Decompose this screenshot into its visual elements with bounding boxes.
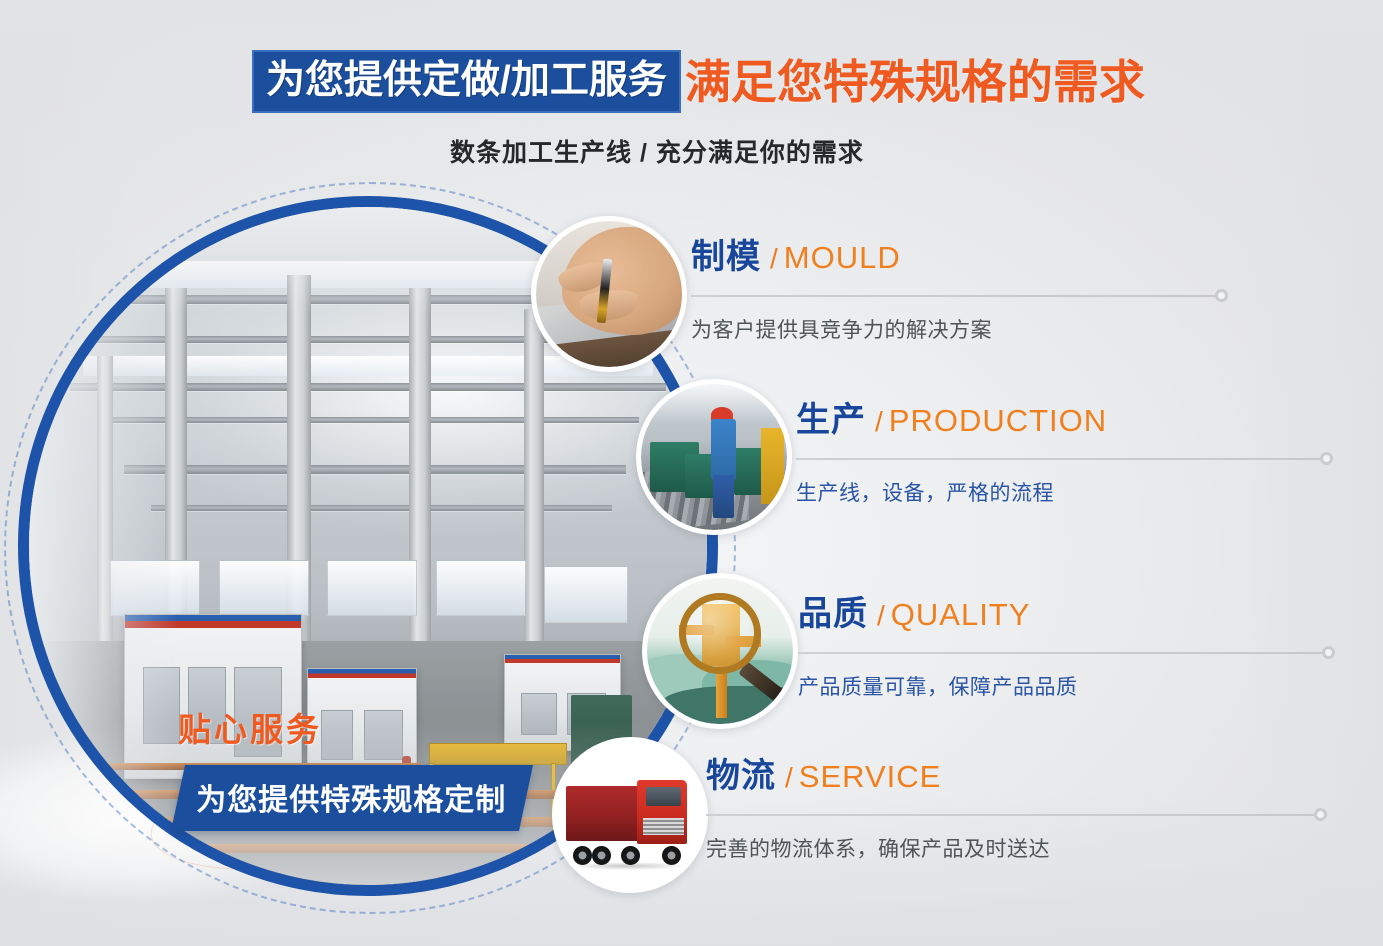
service-title-cn: 生产 <box>796 401 866 439</box>
service-title: 品质/QUALITY <box>798 597 1383 631</box>
service-description: 产品质量可靠，保障产品品质 <box>798 671 1383 701</box>
service-title-en: SERVICE <box>799 759 942 794</box>
service-title-separator: / <box>875 406 883 437</box>
service-divider <box>706 807 1383 823</box>
production-worker-icon <box>636 379 792 535</box>
badge-bar[interactable]: 为您提供特殊规格定制 <box>171 765 533 831</box>
mould-hand-pen-icon <box>531 216 687 372</box>
service-title-en: PRODUCTION <box>889 403 1107 438</box>
service-divider <box>798 645 1383 661</box>
service-divider <box>796 451 1383 467</box>
divider-line <box>691 295 1215 297</box>
service-title-cn: 制模 <box>691 238 761 276</box>
badge-title: 贴心服务 <box>178 703 526 751</box>
divider-end-dot <box>1314 808 1327 821</box>
divider-line <box>798 652 1322 654</box>
service-title-separator: / <box>785 762 793 793</box>
service-title-cn: 物流 <box>706 757 776 795</box>
service-title-cn: 品质 <box>798 595 868 633</box>
badge-bar-label: 为您提供特殊规格定制 <box>196 775 506 819</box>
service-title-separator: / <box>770 243 778 274</box>
divider-line <box>706 814 1314 816</box>
promo-banner: 为您提供定做/加工服务 满足您特殊规格的需求 数条加工生产线 / 充分满足你的需… <box>0 0 1383 946</box>
service-title-en: QUALITY <box>891 597 1031 632</box>
service-description: 完善的物流体系，确保产品及时送达 <box>706 833 1383 863</box>
service-title: 制模/MOULD <box>691 240 1291 274</box>
divider-end-dot <box>1215 289 1228 302</box>
service-description: 为客户提供具竞争力的解决方案 <box>691 314 1291 344</box>
service-title-separator: / <box>877 600 885 631</box>
logistics-truck-icon <box>552 737 708 893</box>
service-title: 物流/SERVICE <box>706 759 1383 793</box>
service-promise-badge: 贴心服务 为您提供特殊规格定制 <box>178 703 526 831</box>
service-divider <box>691 288 1291 304</box>
service-title-en: MOULD <box>784 240 901 275</box>
service-title: 生产/PRODUCTION <box>796 403 1383 437</box>
quality-magnifier-icon <box>642 573 798 729</box>
divider-end-dot <box>1322 646 1335 659</box>
service-description: 生产线，设备，严格的流程 <box>796 477 1383 507</box>
divider-line <box>796 458 1320 460</box>
divider-end-dot <box>1320 452 1333 465</box>
